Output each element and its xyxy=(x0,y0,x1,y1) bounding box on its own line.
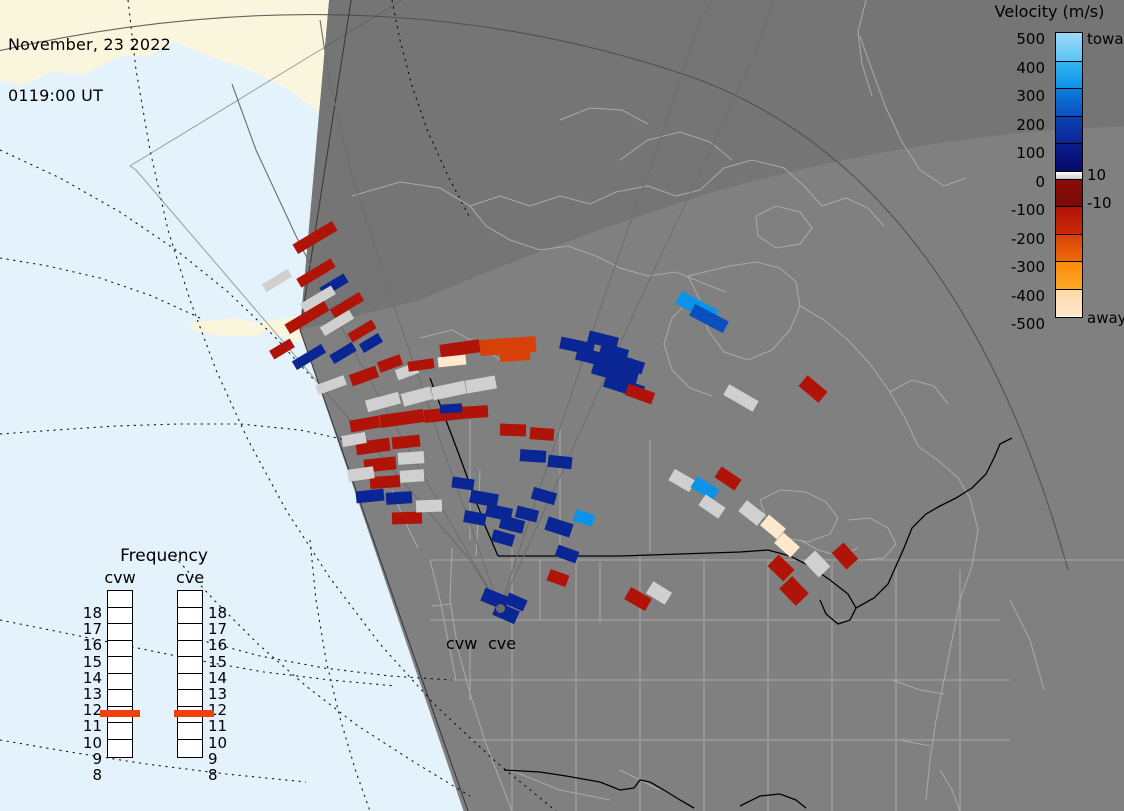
velocity-cell xyxy=(315,375,347,395)
frequency-segment xyxy=(108,674,132,691)
frequency-tick: 18 xyxy=(82,607,102,620)
colorbar-tick: 200 xyxy=(1016,118,1045,132)
frequency-tick: 10 xyxy=(208,737,228,750)
frequency-segment xyxy=(178,608,202,625)
frequency-tick: 11 xyxy=(208,720,228,733)
frequency-tick: 18 xyxy=(208,607,228,620)
colorbar-tick: 0 xyxy=(1035,175,1045,189)
frequency-segment xyxy=(108,657,132,674)
colorbar-title: Velocity (m/s) xyxy=(975,2,1124,21)
velocity-cell xyxy=(416,500,442,513)
velocity-cell xyxy=(531,487,557,505)
velocity-cell xyxy=(365,392,401,412)
velocity-cell xyxy=(714,466,741,490)
colorbar-tick: 100 xyxy=(1016,146,1045,160)
colorbar-toward-label: toward xyxy=(1087,32,1124,46)
velocity-cell xyxy=(262,269,292,292)
frequency-tick: 17 xyxy=(208,623,228,636)
frequency-segment xyxy=(178,591,202,608)
velocity-cell xyxy=(329,342,356,364)
velocity-cell xyxy=(392,511,422,524)
colorbar-tick-labels: 5004003002001000-100-200-300-400-500 xyxy=(975,26,1049,326)
frequency-tick: 16 xyxy=(82,639,102,652)
frequency-segment xyxy=(108,624,132,641)
velocity-cell xyxy=(555,545,580,564)
radar-site-label-cve: cve xyxy=(488,634,516,653)
velocity-cell xyxy=(832,542,859,569)
frequency-bar-cve xyxy=(177,590,203,758)
frequency-bar-cvw xyxy=(107,590,133,758)
frequency-segment xyxy=(178,723,202,740)
frequency-segment xyxy=(178,624,202,641)
velocity-cell xyxy=(804,551,831,578)
frequency-legend: Frequency cvw 18171615141312111098 cve 1… xyxy=(88,546,240,786)
frequency-tick: 15 xyxy=(208,656,228,669)
frequency-tick: 13 xyxy=(208,688,228,701)
frequency-segment xyxy=(108,690,132,707)
velocity-cell xyxy=(799,375,828,402)
frequency-tick: 8 xyxy=(82,769,102,782)
colorbar-inner-neg-label: -10 xyxy=(1087,196,1112,210)
colorbar-band xyxy=(1056,116,1082,144)
velocity-cell xyxy=(530,427,555,441)
timestamp-time: 0119:00 UT xyxy=(8,87,171,104)
frequency-segment xyxy=(108,608,132,625)
frequency-segment xyxy=(178,674,202,691)
colorbar-tick: -300 xyxy=(1011,260,1045,274)
colorbar-inner-pos-label: 10 xyxy=(1087,168,1106,182)
colorbar-tick: -500 xyxy=(1011,317,1045,331)
colorbar-band xyxy=(1056,61,1082,89)
colorbar-tick: 400 xyxy=(1016,61,1045,75)
velocity-cell xyxy=(355,489,384,504)
velocity-cell xyxy=(668,469,695,492)
velocity-cell xyxy=(398,451,425,465)
velocity-cell xyxy=(500,349,531,362)
velocity-cell xyxy=(379,409,424,428)
velocity-cell xyxy=(451,477,474,491)
colorbar-band xyxy=(1056,234,1082,262)
frequency-tick: 12 xyxy=(82,704,102,717)
velocity-cell xyxy=(573,509,596,527)
frequency-tick: 15 xyxy=(82,656,102,669)
velocity-cell xyxy=(386,491,413,505)
frequency-tick: 10 xyxy=(82,737,102,750)
velocity-cell xyxy=(500,424,526,437)
frequency-tick: 11 xyxy=(82,720,102,733)
colorbar-side-labels: toward 10 -10 away xyxy=(1085,26,1124,326)
frequency-tick: 14 xyxy=(82,672,102,685)
colorbar-strip xyxy=(1055,32,1083,318)
velocity-cell xyxy=(462,405,489,419)
frequency-ticks-cve: 18171615141312111098 xyxy=(208,582,228,772)
frequency-column-cvw: cvw 18171615141312111098 xyxy=(90,568,150,784)
velocity-cell xyxy=(544,516,573,537)
frequency-column-cve: cve 18171615141312111098 xyxy=(160,568,220,784)
velocity-cell xyxy=(547,455,572,469)
frequency-segment xyxy=(178,657,202,674)
frequency-segment xyxy=(178,641,202,658)
colorbar-band xyxy=(1056,179,1082,207)
velocity-cell xyxy=(292,221,337,254)
timestamp: November, 23 2022 0119:00 UT xyxy=(8,2,171,138)
frequency-tick: 16 xyxy=(208,639,228,652)
velocity-cell xyxy=(401,386,433,406)
timestamp-date: November, 23 2022 xyxy=(8,36,171,53)
velocity-cell xyxy=(400,469,425,483)
frequency-tick: 9 xyxy=(82,753,102,766)
velocity-colorbar: Velocity (m/s) 5004003002001000-100-200-… xyxy=(975,0,1124,340)
colorbar-tick: -200 xyxy=(1011,232,1045,246)
frequency-segment xyxy=(108,591,132,608)
colorbar-band xyxy=(1056,171,1082,179)
velocity-cell xyxy=(463,510,487,526)
radar-site-marker xyxy=(496,604,505,613)
velocity-cell xyxy=(269,339,295,360)
frequency-tick: 8 xyxy=(208,769,228,782)
velocity-cell xyxy=(431,381,467,401)
colorbar-band xyxy=(1056,33,1082,61)
frequency-marker xyxy=(100,710,140,717)
frequency-ticks-cvw: 18171615141312111098 xyxy=(82,582,102,772)
frequency-tick: 9 xyxy=(208,753,228,766)
velocity-cell xyxy=(349,366,379,387)
velocity-cell xyxy=(292,344,326,370)
colorbar-band xyxy=(1056,261,1082,289)
colorbar-tick: -100 xyxy=(1011,203,1045,217)
velocity-cell xyxy=(349,415,381,432)
frequency-segment xyxy=(108,740,132,757)
colorbar-band xyxy=(1056,206,1082,234)
frequency-tick: 17 xyxy=(82,623,102,636)
colorbar-tick: 500 xyxy=(1016,32,1045,46)
frequency-segment xyxy=(108,723,132,740)
colorbar-band xyxy=(1056,289,1082,317)
frequency-marker xyxy=(174,710,214,717)
frequency-segment xyxy=(178,690,202,707)
velocity-cell xyxy=(625,384,655,405)
colorbar-tick: 300 xyxy=(1016,89,1045,103)
velocity-cell xyxy=(698,494,725,518)
velocity-cell xyxy=(520,449,547,463)
colorbar-band xyxy=(1056,143,1082,171)
velocity-cell xyxy=(391,435,420,450)
radar-site-label-cvw: cvw xyxy=(446,634,477,653)
velocity-cell xyxy=(407,358,434,372)
colorbar-away-label: away xyxy=(1087,311,1124,325)
colorbar-band xyxy=(1056,88,1082,116)
velocity-cell xyxy=(723,384,758,411)
velocity-cell xyxy=(547,569,570,587)
frequency-tick: 13 xyxy=(82,688,102,701)
frequency-legend-title: Frequency xyxy=(88,546,240,566)
velocity-cell xyxy=(438,355,467,368)
velocity-cell xyxy=(491,529,515,547)
velocity-cell xyxy=(465,375,497,393)
frequency-segment xyxy=(178,740,202,757)
velocity-cell xyxy=(440,403,463,414)
radar-map-canvas: cvw cve November, 23 2022 0119:00 UT Vel… xyxy=(0,0,1124,811)
frequency-tick: 14 xyxy=(208,672,228,685)
frequency-segment xyxy=(108,641,132,658)
colorbar-tick: -400 xyxy=(1011,289,1045,303)
